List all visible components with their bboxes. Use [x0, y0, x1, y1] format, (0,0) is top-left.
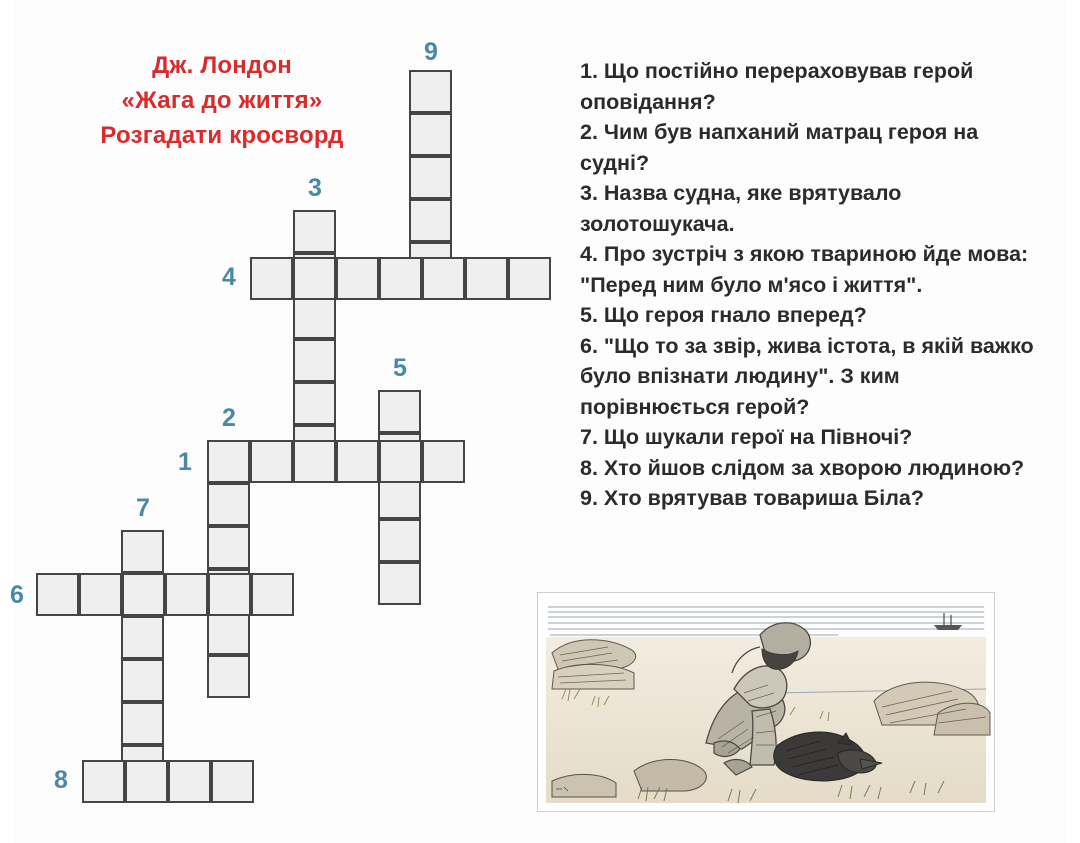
crossword-worksheet: Дж. Лондон «Жага до життя» Розгадати кро…: [0, 0, 1080, 843]
clue-item-7: 7. Що шукали герої на Півночі?: [580, 422, 1050, 453]
grid-cell[interactable]: [293, 296, 336, 339]
clues-list: 1. Що постійно перераховував герой опові…: [580, 56, 1050, 514]
grid-cell[interactable]: [79, 573, 122, 616]
clue-item-6: 6. "Що то за звір, жива істота, в якій в…: [580, 331, 1050, 423]
clue-item-5: 5. Що героя гнало вперед?: [580, 300, 1050, 331]
grid-cell[interactable]: [465, 257, 508, 300]
grid-cell[interactable]: [207, 440, 250, 483]
clue-item-3: 3. Назва судна, яке врятувало золотошука…: [580, 178, 1050, 239]
grid-cell[interactable]: [207, 612, 250, 655]
grid-cell[interactable]: [82, 760, 125, 803]
clue-number-4: 4: [222, 265, 236, 290]
grid-cell[interactable]: [409, 156, 452, 199]
grid-cell[interactable]: [409, 113, 452, 156]
grid-cell[interactable]: [293, 382, 336, 425]
clue-number-3: 3: [308, 176, 322, 201]
grid-cell[interactable]: [378, 519, 421, 562]
clue-item-4: 4. Про зустріч з якою твариною йде мова:…: [580, 239, 1050, 300]
grid-cell[interactable]: [207, 526, 250, 569]
story-illustration: [537, 592, 995, 812]
clue-number-1: 1: [178, 450, 192, 475]
grid-cell[interactable]: [379, 440, 422, 483]
grid-cell[interactable]: [422, 440, 465, 483]
grid-cell[interactable]: [208, 573, 251, 616]
grid-cell[interactable]: [168, 760, 211, 803]
grid-cell[interactable]: [211, 760, 254, 803]
grid-cell[interactable]: [336, 257, 379, 300]
clue-number-5: 5: [393, 356, 407, 381]
illustration-drawing: [538, 593, 994, 811]
clue-number-2: 2: [222, 406, 236, 431]
clue-item-2: 2. Чим був напханий матрац героя на судн…: [580, 117, 1050, 178]
clue-number-8: 8: [54, 768, 68, 793]
grid-cell[interactable]: [409, 70, 452, 113]
clue-item-1: 1. Що постійно перераховував герой опові…: [580, 56, 1050, 117]
grid-cell[interactable]: [122, 573, 165, 616]
grid-cell[interactable]: [378, 390, 421, 433]
grid-cell[interactable]: [121, 659, 164, 702]
grid-cell[interactable]: [165, 573, 208, 616]
grid-cell[interactable]: [508, 257, 551, 300]
grid-cell[interactable]: [293, 440, 336, 483]
grid-cell[interactable]: [293, 210, 336, 253]
clue-number-9: 9: [424, 40, 438, 65]
clue-number-6: 6: [10, 583, 24, 608]
grid-cell[interactable]: [250, 440, 293, 483]
grid-cell[interactable]: [293, 257, 336, 300]
page-edge-right: [1066, 0, 1080, 843]
grid-cell[interactable]: [207, 483, 250, 526]
clue-item-8: 8. Хто йшов слідом за хворою людиною?: [580, 453, 1050, 484]
grid-cell[interactable]: [207, 655, 250, 698]
grid-cell[interactable]: [250, 257, 293, 300]
grid-cell[interactable]: [378, 562, 421, 605]
grid-cell[interactable]: [121, 530, 164, 573]
grid-cell[interactable]: [293, 339, 336, 382]
grid-cell[interactable]: [409, 199, 452, 242]
crossword-grid[interactable]: 934521768: [0, 0, 580, 843]
clue-item-9: 9. Хто врятував товариша Біла?: [580, 483, 1050, 514]
grid-cell[interactable]: [121, 702, 164, 745]
grid-cell[interactable]: [121, 616, 164, 659]
clue-number-7: 7: [136, 496, 150, 521]
grid-cell[interactable]: [379, 257, 422, 300]
grid-cell[interactable]: [125, 760, 168, 803]
grid-cell[interactable]: [36, 573, 79, 616]
grid-cell[interactable]: [422, 257, 465, 300]
grid-cell[interactable]: [336, 440, 379, 483]
grid-cell[interactable]: [251, 573, 294, 616]
